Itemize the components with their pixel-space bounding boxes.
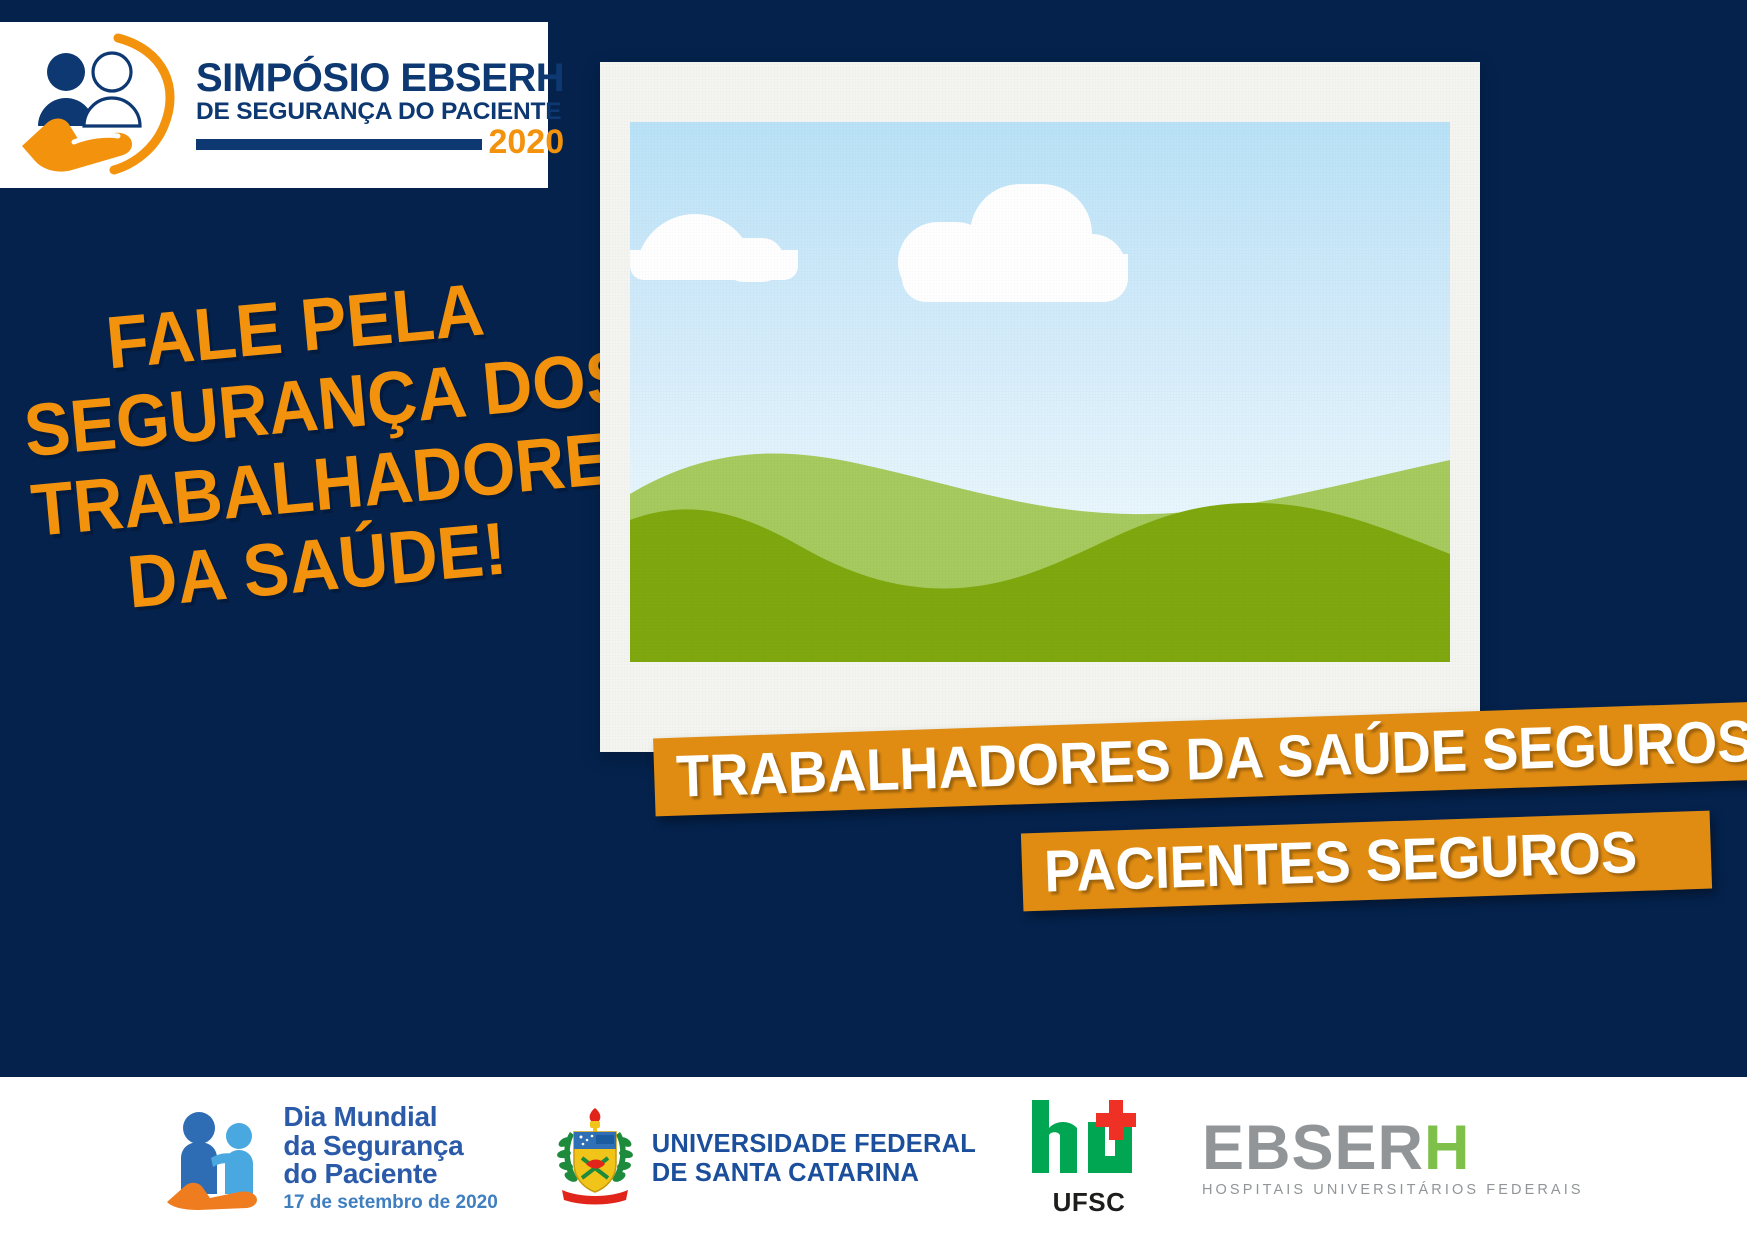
- hills-illustration: [630, 402, 1450, 662]
- banner-pacientes-seguros: PACIENTES SEGUROS: [1021, 811, 1712, 912]
- dia-mundial-text: Dia Mundial da Segurança do Paciente 17 …: [283, 1103, 497, 1214]
- event-year: 2020: [488, 128, 564, 157]
- dia-mundial-title-2: da Segurança: [283, 1132, 497, 1161]
- logo-rule: [196, 139, 482, 150]
- footer-logo-ufsc: UNIVERSIDADE FEDERAL DE SANTA CATARINA: [552, 1106, 976, 1211]
- event-logo-plate: SIMPÓSIO EBSERH DE SEGURANÇA DO PACIENTE…: [0, 22, 548, 188]
- hu-ufsc-label: UFSC: [1053, 1187, 1126, 1218]
- landscape-photo: [630, 122, 1450, 662]
- cloud-icon-left-puff: [722, 238, 784, 282]
- event-logo-year-row: 2020: [196, 128, 564, 157]
- ufsc-name-line-2: DE SANTA CATARINA: [652, 1159, 976, 1188]
- ufsc-coat-of-arms-icon: [552, 1106, 638, 1211]
- ebserh-subtitle: HOSPITAIS UNIVERSITÁRIOS FEDERAIS: [1202, 1182, 1584, 1198]
- event-title-line1: SIMPÓSIO EBSERH: [196, 59, 564, 98]
- two-people-handshake-icon: [163, 1102, 275, 1215]
- ufsc-name: UNIVERSIDADE FEDERAL DE SANTA CATARINA: [652, 1130, 976, 1187]
- hu-cross-icon: [1030, 1100, 1148, 1185]
- dia-mundial-title-1: Dia Mundial: [283, 1103, 497, 1132]
- polaroid-frame: [600, 62, 1480, 752]
- dia-mundial-date: 17 de setembro de 2020: [283, 1192, 497, 1214]
- footer-logo-dia-mundial: Dia Mundial da Segurança do Paciente 17 …: [163, 1102, 497, 1215]
- ufsc-name-line-1: UNIVERSIDADE FEDERAL: [652, 1130, 976, 1159]
- event-title-line2: DE SEGURANÇA DO PACIENTE: [196, 98, 564, 126]
- footer-logo-ebserh: EBSERH HOSPITAIS UNIVERSITÁRIOS FEDERAIS: [1202, 1119, 1584, 1199]
- ebserh-word-main: EBSER: [1202, 1113, 1424, 1183]
- banner-2-text: PACIENTES SEGUROS: [1043, 818, 1638, 906]
- footer-logo-bar: Dia Mundial da Segurança do Paciente 17 …: [0, 1077, 1747, 1240]
- poster-canvas: SIMPÓSIO EBSERH DE SEGURANÇA DO PACIENTE…: [0, 0, 1747, 1240]
- dia-mundial-title-3: do Paciente: [283, 1160, 497, 1189]
- headline: FALE PELA SEGURANÇA DOS TRABALHADORES DA…: [0, 259, 619, 632]
- ebserh-word-accent: H: [1424, 1113, 1471, 1183]
- footer-logo-hu-ufsc: UFSC: [1030, 1100, 1148, 1218]
- hand-holding-two-people-icon: [14, 30, 190, 180]
- event-logo-text: SIMPÓSIO EBSERH DE SEGURANÇA DO PACIENTE…: [196, 53, 564, 157]
- cloud-icon-right-base: [902, 254, 1128, 302]
- ebserh-wordmark: EBSERH: [1202, 1119, 1471, 1179]
